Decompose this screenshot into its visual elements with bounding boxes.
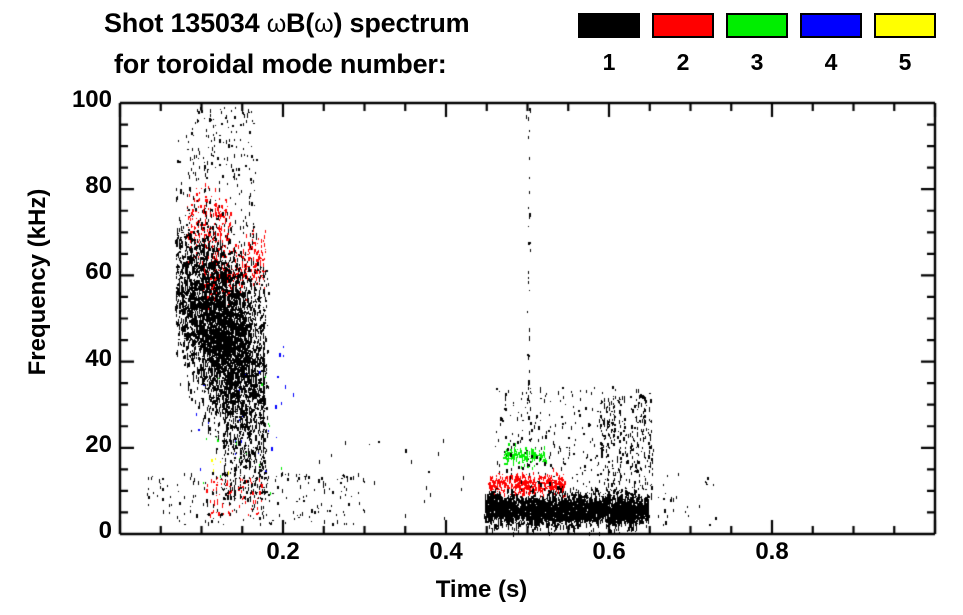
spectrogram-figure: Shot 135034 ωB(ω) spectrum for toroidal … [0,0,963,615]
spectrogram-plot-area[interactable] [0,0,963,615]
